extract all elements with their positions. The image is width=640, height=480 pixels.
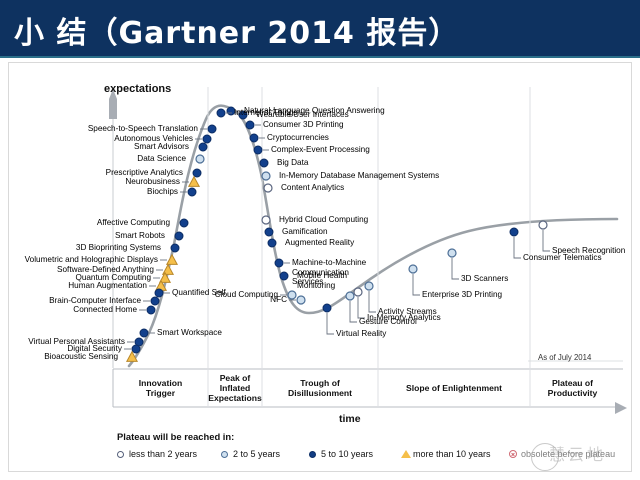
technology-label: Smart Robots — [115, 231, 165, 241]
legend-label: less than 2 years — [129, 449, 197, 459]
header-divider — [0, 56, 640, 58]
technology-label: Content Analytics — [281, 183, 344, 193]
technology-label: Smart Workspace — [157, 328, 222, 338]
y-axis-label: expectations — [104, 83, 171, 95]
technology-label: Virtual Reality — [336, 329, 386, 339]
technology-label: 3D Bioprinting Systems — [76, 243, 161, 253]
watermark-ring-icon — [531, 443, 559, 471]
technology-label: Smart Advisors — [134, 142, 189, 152]
technology-label: Enterprise 3D Printing — [422, 290, 502, 300]
phase-label-2: Peak ofInflatedExpectations — [208, 373, 262, 403]
dark-circle-icon — [309, 451, 316, 458]
technology-label: Cryptocurrencies — [267, 133, 329, 143]
light-circle-icon — [221, 451, 228, 458]
hype-cycle-slide: 小 结（Gartner 2014 报告） expectations As of … — [0, 0, 640, 480]
technology-label: Gamification — [282, 227, 328, 237]
phase-label-1: InnovationTrigger — [113, 378, 208, 398]
obsolete-icon — [509, 450, 517, 458]
technology-label: NFC — [270, 295, 287, 305]
technology-label: Connected Home — [73, 305, 137, 315]
technology-label: Neurobusiness — [125, 177, 180, 187]
technology-label: Human Augmentation — [68, 281, 147, 291]
technology-label: Biochips — [147, 187, 178, 197]
phase-label-5: Plateau ofProductivity — [530, 378, 615, 398]
technology-label: Consumer 3D Printing — [263, 120, 344, 130]
technology-label: Big Data — [277, 158, 308, 168]
x-axis-label: time — [339, 413, 361, 425]
technology-label: Data Science — [137, 154, 186, 164]
chart-plot-area: expectations As of July 2014 time Innova… — [9, 63, 631, 471]
technology-label: Speech-to-Speech Translation — [88, 124, 198, 134]
page-title: 小 结（Gartner 2014 报告） — [14, 8, 459, 52]
legend-label: 5 to 10 years — [321, 449, 373, 459]
technology-label: Bioacoustic Sensing — [44, 352, 118, 362]
triangle-icon — [401, 450, 411, 458]
phase-label-4: Slope of Enlightenment — [378, 383, 530, 393]
phase-label-3: Trough ofDisillusionment — [262, 378, 378, 398]
technology-label: Hybrid Cloud Computing — [279, 215, 368, 225]
open-circle-icon — [117, 451, 124, 458]
technology-label: Volumetric and Holographic Displays — [25, 255, 158, 265]
technology-label: Wearable User Interfaces — [256, 110, 349, 120]
legend-label: more than 10 years — [413, 449, 491, 459]
technology-label: Complex-Event Processing — [271, 145, 370, 155]
technology-label: 3D Scanners — [461, 274, 508, 284]
technology-label: Activity Streams — [378, 307, 437, 317]
technology-label: Augmented Reality — [285, 238, 354, 248]
technology-label: Affective Computing — [97, 218, 170, 228]
technology-label: Mobile HealthMonitoring — [297, 271, 347, 290]
slide-header: 小 结（Gartner 2014 报告） — [0, 0, 640, 58]
technology-label: Quantified Self — [172, 288, 226, 298]
legend-title: Plateau will be reached in: — [117, 431, 234, 442]
technology-label: Speech Recognition — [552, 246, 625, 256]
legend-label: 2 to 5 years — [233, 449, 280, 459]
technology-label: In-Memory Database Management Systems — [279, 171, 439, 181]
hype-cycle-chart: expectations As of July 2014 time Innova… — [8, 62, 632, 472]
as-of-date: As of July 2014 — [538, 353, 591, 362]
